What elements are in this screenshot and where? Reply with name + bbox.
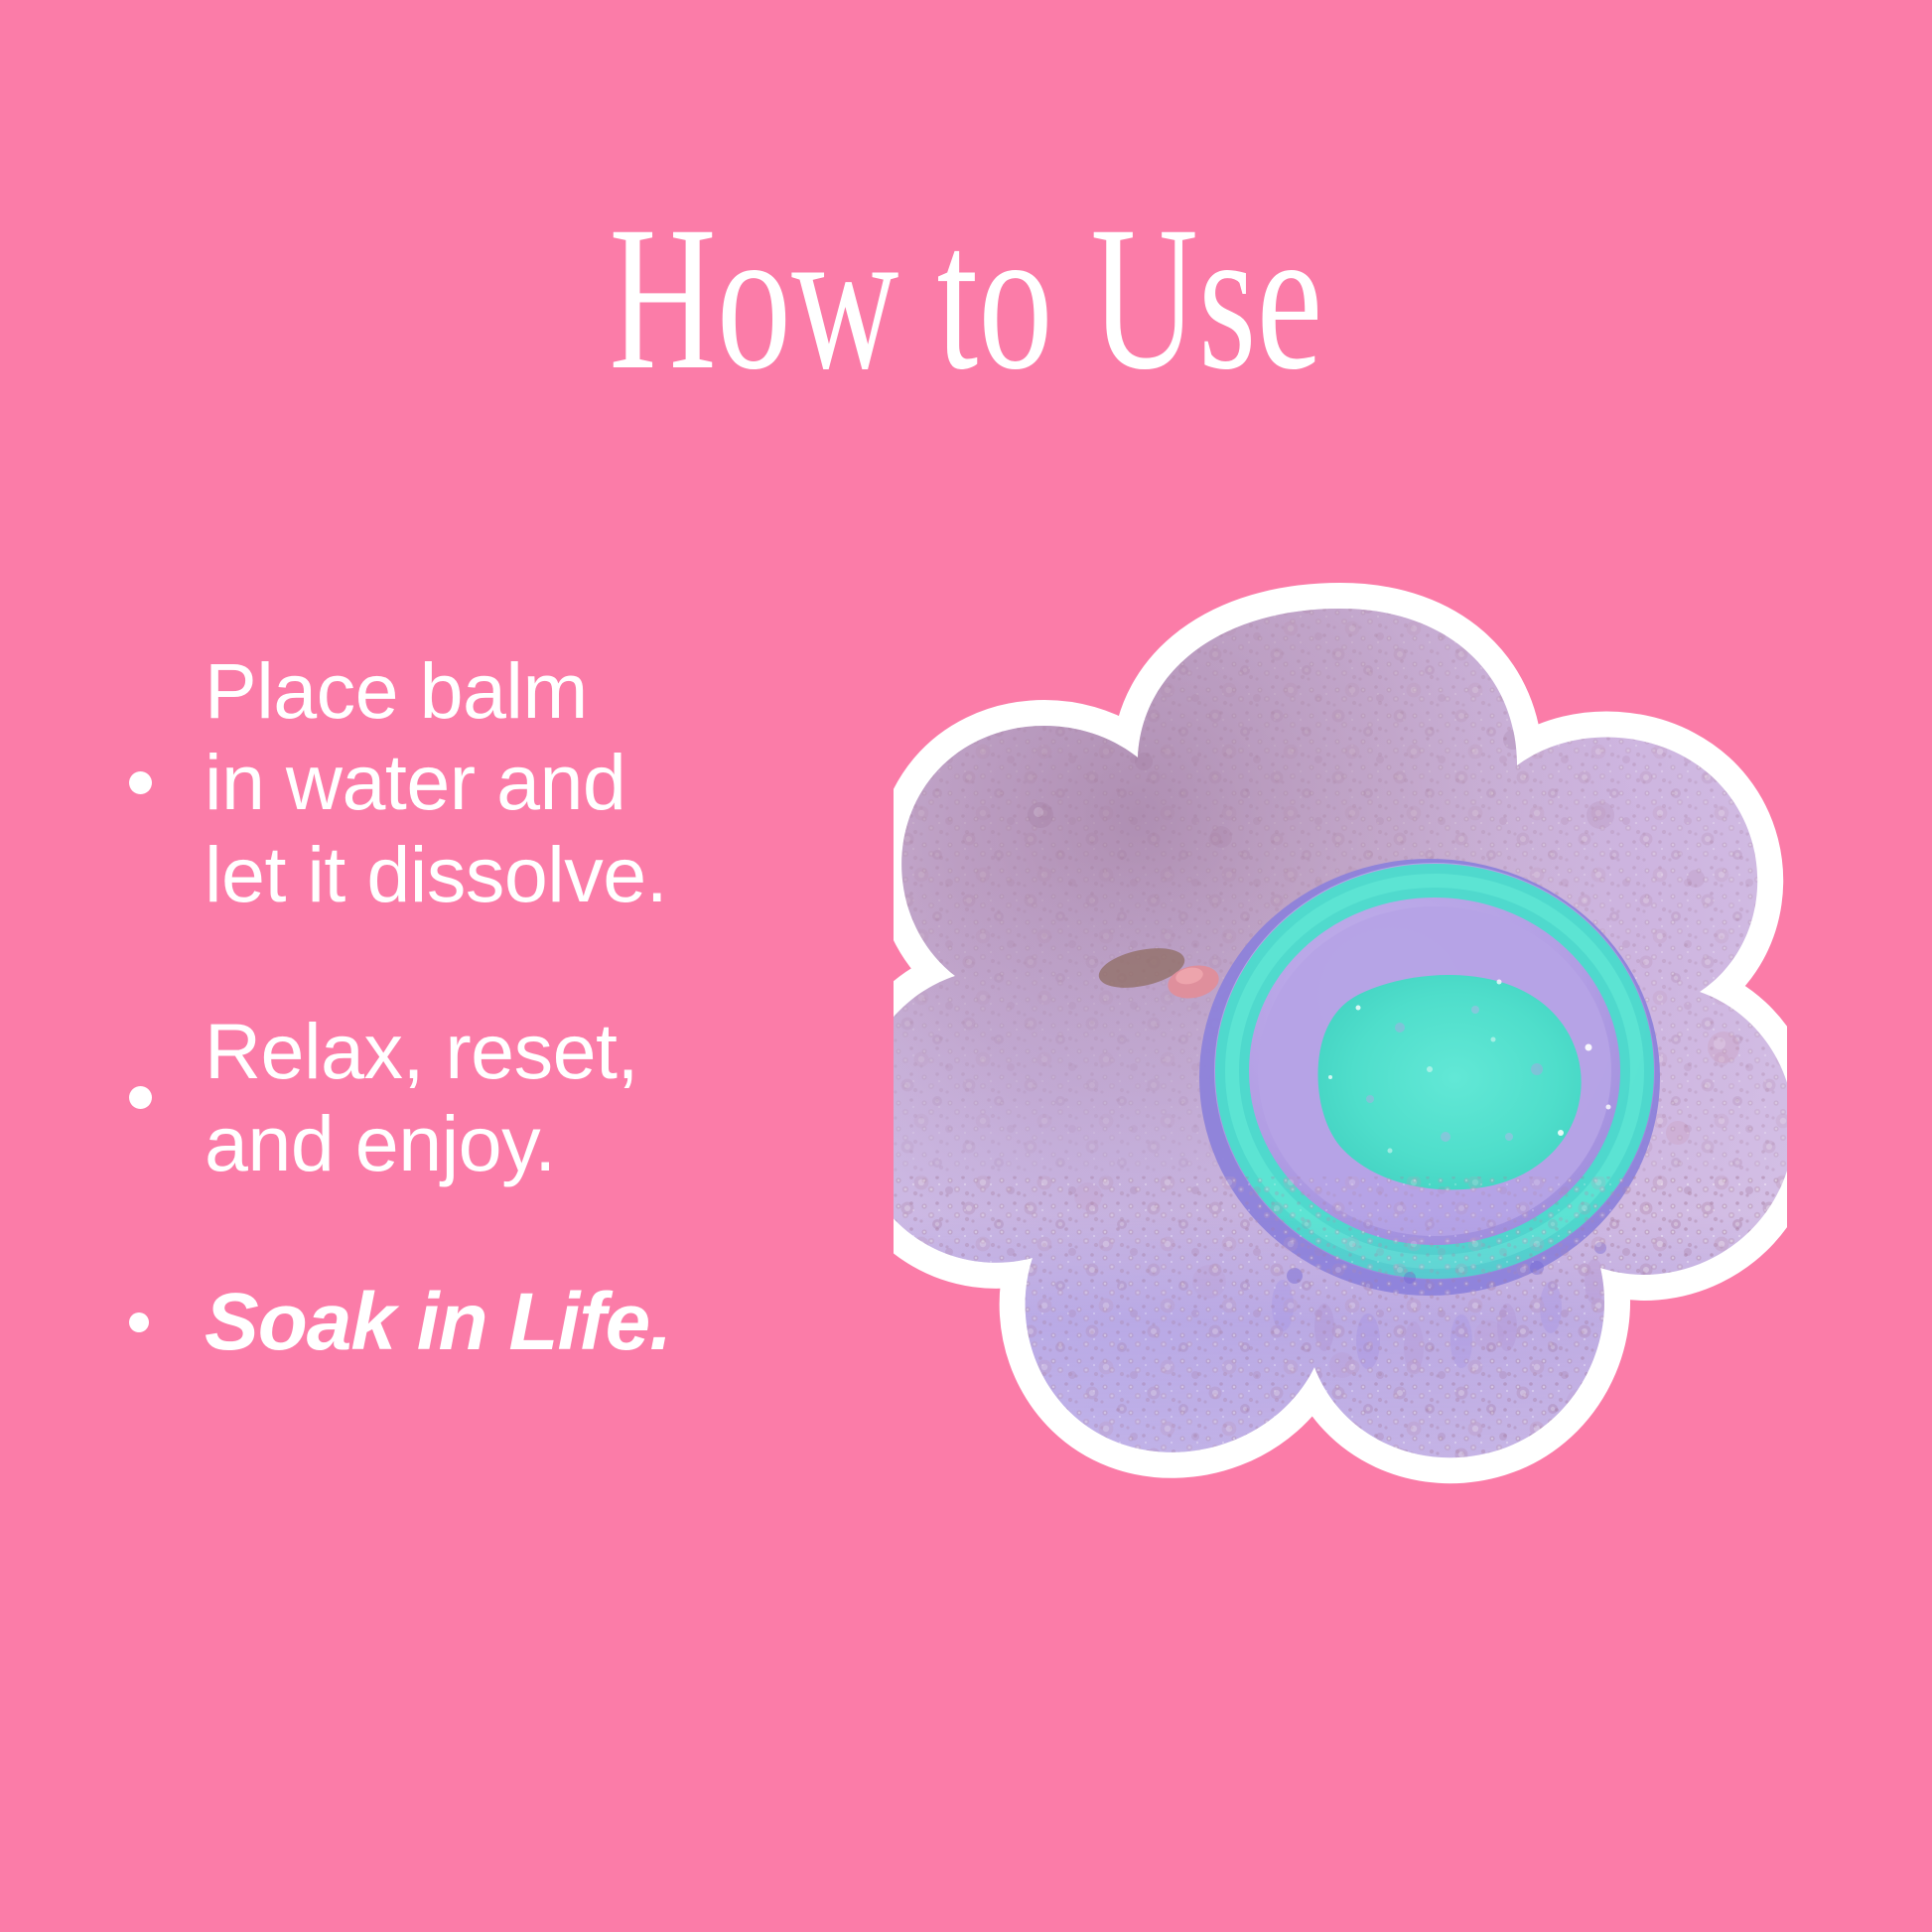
how-to-use-steps-list: Place balm in water and let it dissolve.… [129, 645, 804, 1370]
list-item: Place balm in water and let it dissolve. [129, 645, 804, 920]
product-photo-flower-frame [894, 581, 1787, 1554]
list-item: Soak in Life. [129, 1275, 804, 1370]
bullet-cell [129, 1312, 205, 1332]
bullet-cell [129, 1086, 205, 1109]
dot-bullet-icon [129, 1312, 149, 1332]
step-text: Place balm in water and let it dissolve. [205, 645, 667, 920]
bullet-cell [129, 771, 205, 794]
dot-bullet-icon [129, 1086, 152, 1109]
step-text-tagline: Soak in Life. [205, 1275, 671, 1370]
step-text: Relax, reset, and enjoy. [205, 1006, 638, 1189]
list-item: Relax, reset, and enjoy. [129, 1006, 804, 1189]
poster-canvas: How to Use Place balm in water and let i… [0, 0, 1932, 1932]
flower-frame-svg [894, 581, 1787, 1554]
dot-bullet-icon [129, 771, 152, 794]
page-title: How to Use [270, 195, 1661, 401]
